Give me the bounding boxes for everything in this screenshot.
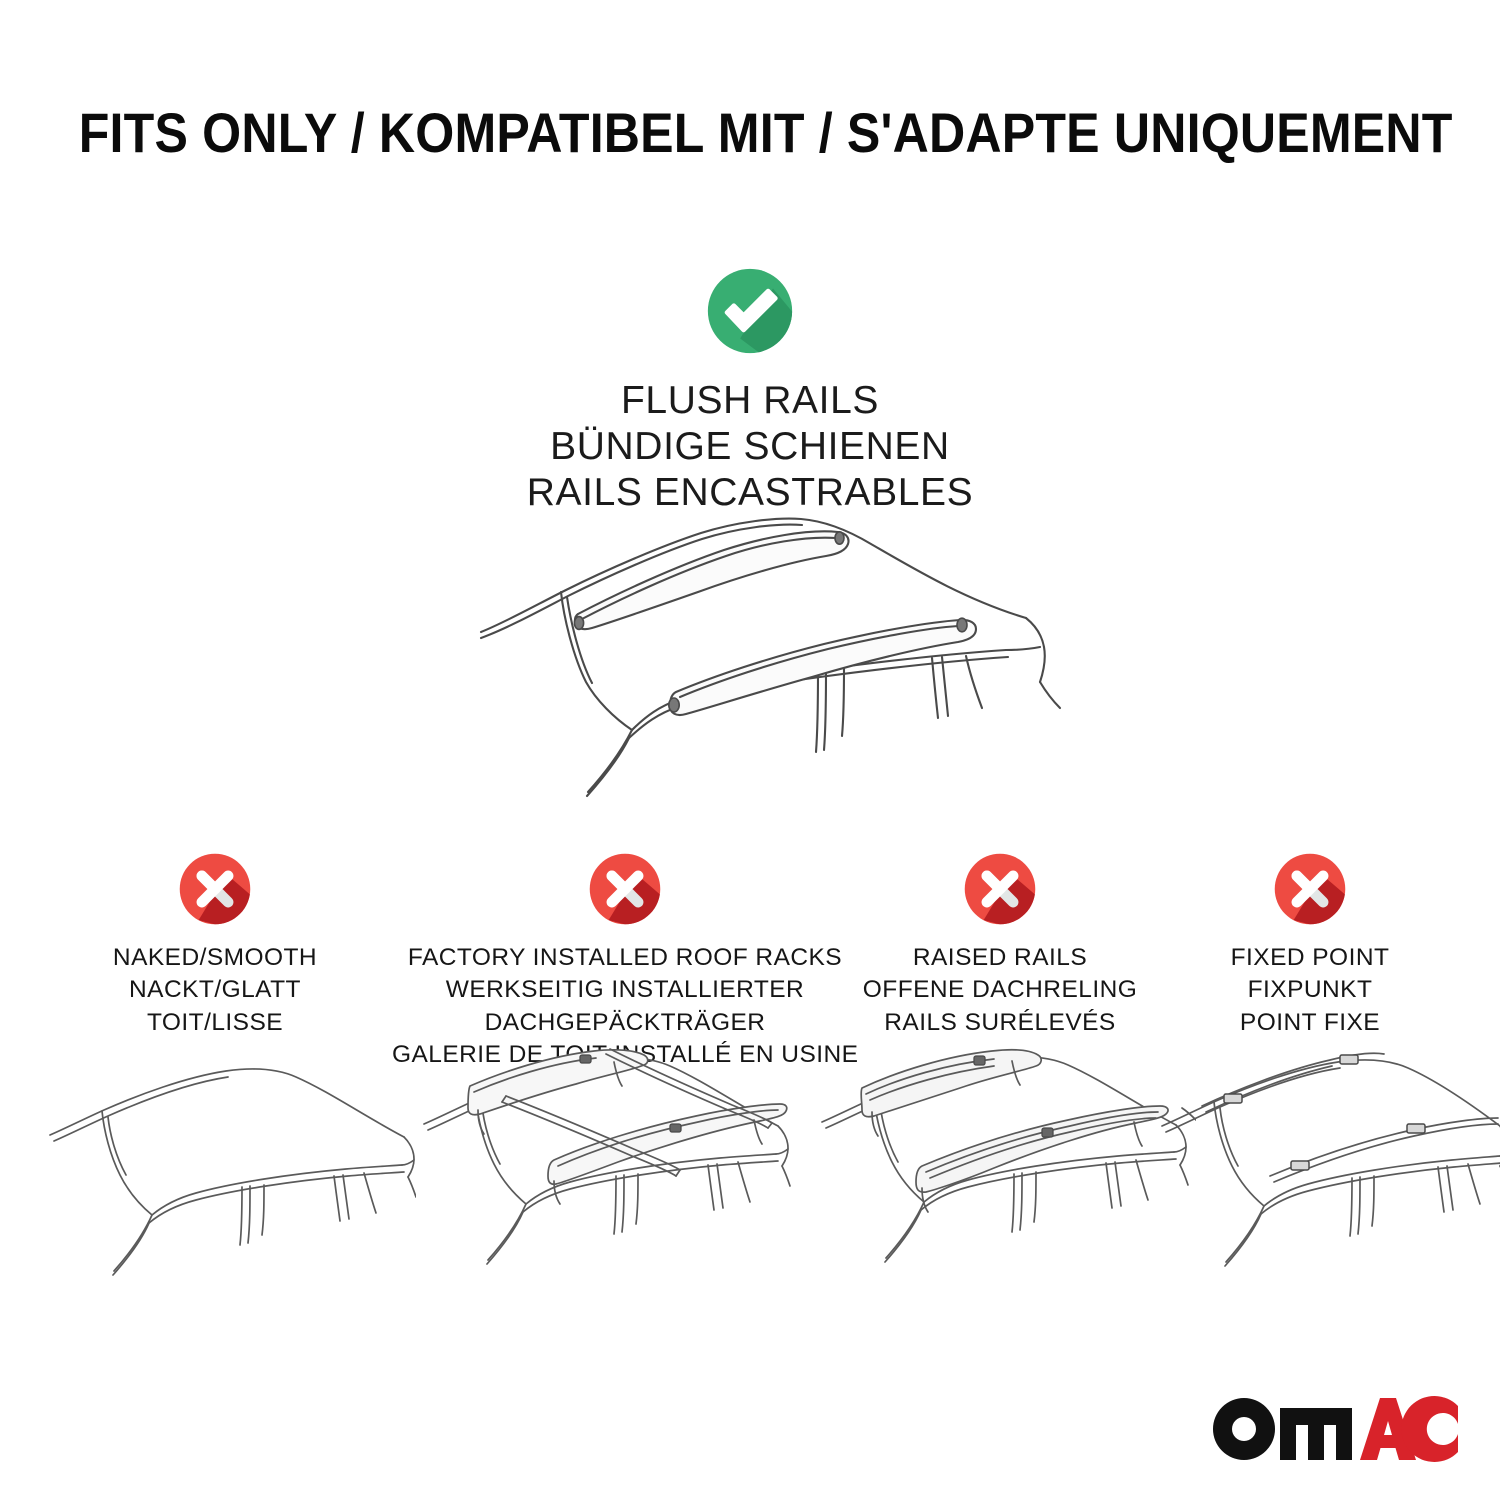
nf3-label-fr: POINT FIXE — [1170, 1007, 1450, 1039]
header: FITS ONLY / KOMPATIBEL MIT / S'ADAPTE UN… — [0, 104, 1500, 163]
green-check-circle-icon — [701, 262, 799, 360]
car-roof-with-flush-rails-illustration — [446, 500, 1066, 800]
compatible-labels: FLUSH RAILS BÜNDIGE SCHIENEN RAILS ENCAS… — [0, 378, 1500, 516]
nf1-label-en: FACTORY INSTALLED ROOF RACKS — [392, 942, 858, 974]
not-compatible-item-factory-roof-racks: FACTORY INSTALLED ROOF RACKS WERKSEITIG … — [392, 848, 858, 1071]
nf3-label-de: FIXPUNKT — [1170, 974, 1450, 1006]
not-compatible-labels: FIXED POINT FIXPUNKT POINT FIXE — [1170, 942, 1450, 1039]
car-roof-with-fixed-points-illustration — [1158, 1048, 1500, 1288]
nf0-label-fr: TOIT/LISSE — [40, 1007, 390, 1039]
not-compatible-labels: NAKED/SMOOTH NACKT/GLATT TOIT/LISSE — [40, 942, 390, 1039]
car-roof-bare-illustration — [46, 1055, 416, 1295]
red-x-circle-icon — [1269, 848, 1351, 930]
car-roof-with-factory-crossbars-illustration — [418, 1048, 798, 1288]
car-roof-with-raised-rails-illustration — [816, 1048, 1196, 1288]
compatible-label-de: BÜNDIGE SCHIENEN — [0, 424, 1500, 470]
not-compatible-labels: RAISED RAILS OFFENE DACHRELING RAILS SUR… — [838, 942, 1162, 1039]
not-compatible-item-raised-rails: RAISED RAILS OFFENE DACHRELING RAILS SUR… — [838, 848, 1162, 1039]
nf1-label-de-1: WERKSEITIG INSTALLIERTER — [392, 974, 858, 1006]
not-compatible-section: NAKED/SMOOTH NACKT/GLATT TOIT/LISSE FACT — [0, 848, 1500, 1048]
compatible-section: FLUSH RAILS BÜNDIGE SCHIENEN RAILS ENCAS… — [0, 262, 1500, 516]
nf0-label-en: NAKED/SMOOTH — [40, 942, 390, 974]
nf2-label-de: OFFENE DACHRELING — [838, 974, 1162, 1006]
red-x-circle-icon — [584, 848, 666, 930]
nf2-label-en: RAISED RAILS — [838, 942, 1162, 974]
nf3-label-en: FIXED POINT — [1170, 942, 1450, 974]
nf1-label-de-2: DACHGEPÄCKTRÄGER — [392, 1007, 858, 1039]
omac-logo — [1210, 1394, 1458, 1464]
not-compatible-item-fixed-point: FIXED POINT FIXPUNKT POINT FIXE — [1170, 848, 1450, 1039]
logo-letter-m — [1280, 1408, 1352, 1460]
not-compatible-item-naked-smooth: NAKED/SMOOTH NACKT/GLATT TOIT/LISSE — [40, 848, 390, 1039]
red-x-circle-icon — [959, 848, 1041, 930]
nf0-label-de: NACKT/GLATT — [40, 974, 390, 1006]
nf2-label-fr: RAILS SURÉLEVÉS — [838, 1007, 1162, 1039]
page-title: FITS ONLY / KOMPATIBEL MIT / S'ADAPTE UN… — [79, 104, 1422, 163]
logo-letter-o — [1213, 1398, 1275, 1460]
compatible-label-en: FLUSH RAILS — [0, 378, 1500, 424]
red-x-circle-icon — [174, 848, 256, 930]
